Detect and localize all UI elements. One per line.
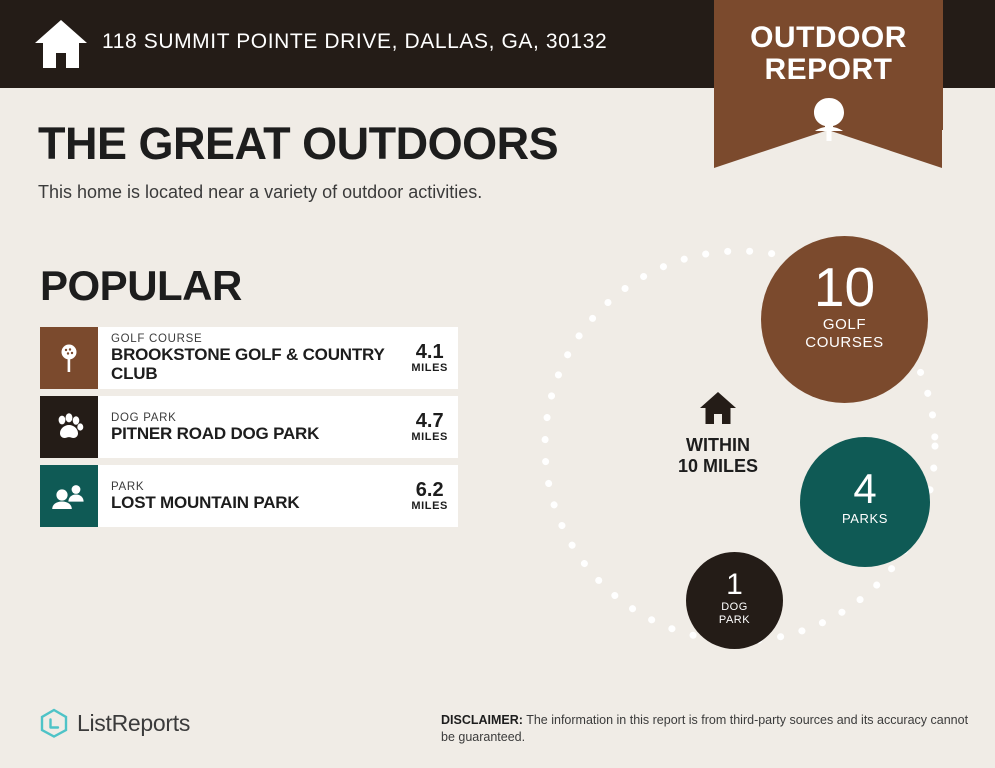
list-item[interactable]: PARK LOST MOUNTAIN PARK 6.2 MILES [40,465,458,527]
list-item-category: DOG PARK [111,412,319,424]
list-item-distance: 6.2 MILES [403,480,448,512]
disclaimer-label: DISCLAIMER: [441,713,523,727]
home-icon [33,17,89,71]
property-address: 118 SUMMIT POINTE DRIVE, DALLAS, GA, 301… [102,30,607,54]
golf-icon [40,327,98,389]
brand-name: ListReports [77,710,190,737]
list-item-name: PITNER ROAD DOG PARK [111,424,319,443]
list-item-body: DOG PARK PITNER ROAD DOG PARK 4.7 MILES [98,396,458,458]
list-item-text: GOLF COURSE BROOKSTONE GOLF & COUNTRY CL… [111,333,403,383]
list-item-category: GOLF COURSE [111,333,403,345]
distance-value: 6.2 [411,480,448,500]
listreports-logo-icon [40,708,68,738]
page-title: THE GREAT OUTDOORS [38,118,558,170]
page-subtitle: This home is located near a variety of o… [38,182,482,203]
paw-icon [40,396,98,458]
list-item-name: LOST MOUNTAIN PARK [111,493,299,512]
list-item-text: DOG PARK PITNER ROAD DOG PARK [111,412,319,443]
stat-count: 1 [686,552,783,601]
list-item-body: GOLF COURSE BROOKSTONE GOLF & COUNTRY CL… [98,327,458,389]
within-line-1: WITHIN [648,435,788,456]
stat-label-line-1: PARKS [800,511,930,526]
stat-label-line-2: PARK [686,614,783,627]
badge-line-1: OUTDOOR [714,22,943,54]
tree-icon [714,96,943,147]
distance-unit: MILES [411,500,448,512]
brand[interactable]: ListReports [40,708,190,738]
list-item-text: PARK LOST MOUNTAIN PARK [111,481,299,512]
distance-unit: MILES [411,431,448,443]
stat-bubble-parks: 4 PARKS [800,437,930,567]
home-icon [698,390,738,426]
stat-bubble-golf-courses: 10 GOLF COURSES [761,236,928,403]
distance-unit: MILES [411,362,448,374]
list-item-name: BROOKSTONE GOLF & COUNTRY CLUB [111,345,403,383]
within-line-2: 10 MILES [648,456,788,477]
section-title-popular: POPULAR [40,262,242,310]
stat-label-line-1: DOG [686,601,783,614]
stat-label-line-2: COURSES [761,334,928,352]
stat-count: 10 [761,236,928,316]
list-item-body: PARK LOST MOUNTAIN PARK 6.2 MILES [98,465,458,527]
within-radius-label: WITHIN 10 MILES [648,390,788,477]
distance-value: 4.1 [411,342,448,362]
stat-label-line-1: GOLF [761,316,928,334]
stat-bubble-dog-park: 1 DOG PARK [686,552,783,649]
stat-count: 4 [800,437,930,511]
park-icon [40,465,98,527]
popular-list: GOLF COURSE BROOKSTONE GOLF & COUNTRY CL… [40,327,458,534]
disclaimer: DISCLAIMER: The information in this repo… [441,712,969,746]
list-item-distance: 4.1 MILES [403,342,448,374]
badge-line-2: REPORT [714,54,943,86]
list-item-category: PARK [111,481,299,493]
badge-text: OUTDOOR REPORT [714,22,943,86]
outdoor-report-page: 118 SUMMIT POINTE DRIVE, DALLAS, GA, 301… [0,0,995,768]
list-item[interactable]: GOLF COURSE BROOKSTONE GOLF & COUNTRY CL… [40,327,458,389]
distance-value: 4.7 [411,411,448,431]
list-item-distance: 4.7 MILES [403,411,448,443]
list-item[interactable]: DOG PARK PITNER ROAD DOG PARK 4.7 MILES [40,396,458,458]
